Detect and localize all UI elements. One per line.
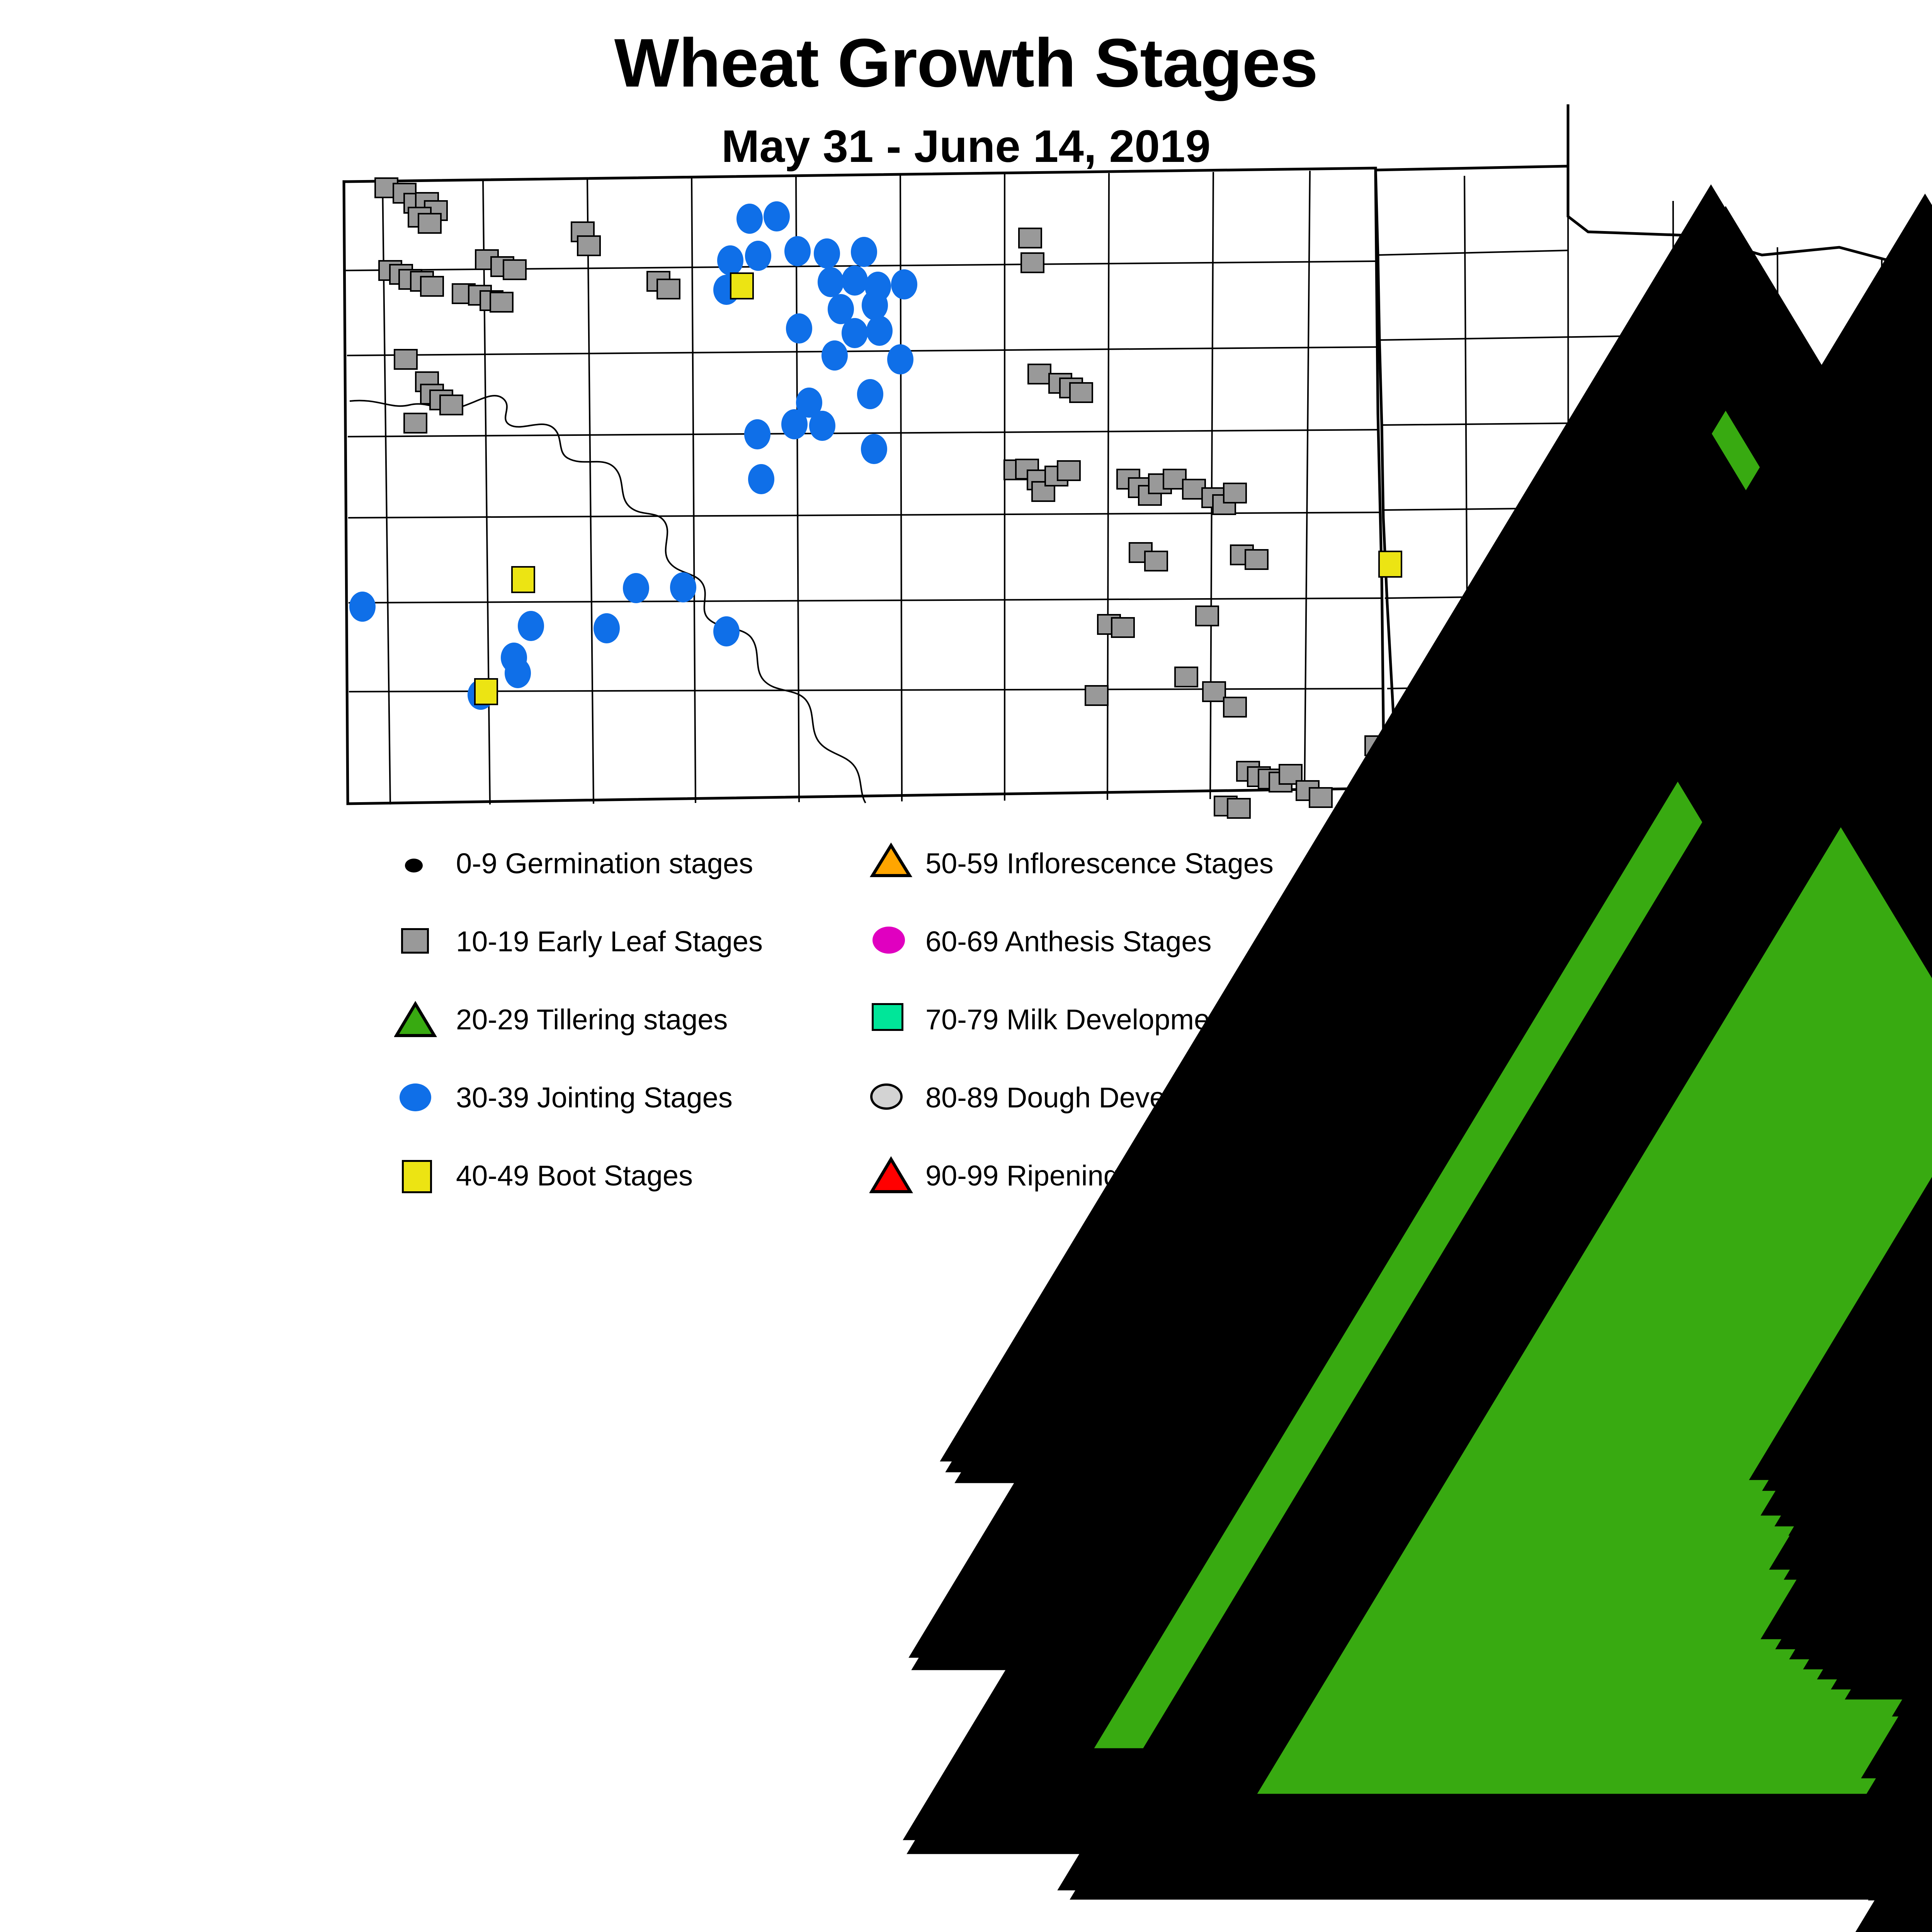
map-marker-tillering [859, 519, 887, 543]
legend-label: 40-49 Boot Stages [456, 1160, 693, 1191]
legend-label: 60-69 Anthesis Stages [925, 926, 1212, 957]
map-marker-tillering [1501, 801, 1529, 825]
legend-item-inflorescence[interactable]: 50-59 Inflorescence Stages [869, 842, 1457, 920]
map-marker-jointing [736, 204, 763, 234]
boot-square-icon [394, 1155, 452, 1205]
legend-label: 10-19 Early Leaf Stages [456, 926, 763, 957]
anthesis-circle-icon [869, 920, 920, 971]
map-marker-jointing [505, 658, 531, 688]
map-marker-tillering [555, 619, 583, 644]
legend-item-jointing[interactable]: 30-39 Jointing Stages [394, 1077, 850, 1155]
map-marker-tillering [1488, 1051, 1515, 1076]
map-marker-tillering [848, 467, 876, 492]
legend-label: 90-99 Ripening Stages [925, 1160, 1216, 1191]
map-marker-tillering [1501, 952, 1529, 977]
early-leaf-square-icon [394, 920, 452, 971]
map-marker-boot [474, 678, 498, 705]
map-marker-jointing [745, 241, 771, 271]
map-marker-tillering [1488, 269, 1515, 294]
map-marker-jointing [821, 340, 848, 371]
germination-dot-icon [394, 842, 452, 893]
map-marker-jointing [851, 237, 877, 267]
legend-item-boot[interactable]: 40-49 Boot Stages [394, 1155, 850, 1233]
page-title: Wheat Growth Stages [0, 29, 1932, 97]
map-marker-boot [1378, 551, 1402, 578]
map-marker-jointing [781, 409, 808, 439]
legend: 0-9 Germination stages 10-19 Early Leaf … [394, 842, 1457, 1233]
map-marker-tillering [392, 573, 420, 598]
legend-label: 50-59 Inflorescence Stages [925, 848, 1274, 879]
map-marker-jointing [842, 265, 868, 296]
map-marker-jointing [784, 236, 811, 266]
legend-label: 30-39 Jointing Stages [456, 1082, 733, 1113]
map-marker-jointing [717, 245, 743, 276]
legend-item-milk[interactable]: 70-79 Milk Development Stages [869, 998, 1457, 1077]
legend-column-left: 0-9 Germination stages 10-19 Early Leaf … [394, 842, 850, 1233]
map-marker-early-leaf [394, 349, 418, 370]
legend-label: 70-79 Milk Development Stages [925, 1004, 1331, 1035]
map-marker-jointing [594, 613, 620, 643]
map-marker-jointing [861, 434, 887, 464]
map-marker-jointing [349, 592, 376, 622]
map-marker-jointing [862, 290, 888, 320]
map-marker-jointing [857, 379, 883, 409]
dough-circle-icon [869, 1077, 920, 1127]
legend-label: 80-89 Dough Development Stages [925, 1082, 1364, 1113]
jointing-circle-icon [394, 1077, 452, 1127]
legend-item-germination[interactable]: 0-9 Germination stages [394, 842, 850, 920]
wheat-growth-stage-map-page: Wheat Growth Stages May 31 - June 14, 20… [0, 0, 1932, 1355]
map-marker-jointing [748, 464, 774, 494]
map-marker-tillering [722, 453, 750, 478]
map-marker-tillering [1495, 894, 1523, 919]
map-marker-jointing [713, 616, 740, 646]
map-marker-boot [511, 566, 535, 593]
legend-column-right: 50-59 Inflorescence Stages 60-69 Anthesi… [869, 842, 1457, 1233]
legend-item-dough[interactable]: 80-89 Dough Development Stages [869, 1077, 1457, 1155]
page-subtitle: May 31 - June 14, 2019 [0, 124, 1932, 169]
tillering-triangle-icon [394, 998, 452, 1049]
map-marker-tillering [1604, 1029, 1632, 1054]
map-marker-jointing [891, 269, 917, 299]
map-marker-jointing [887, 344, 913, 374]
map-marker-tillering [1445, 215, 1473, 240]
map-marker-jointing [809, 411, 835, 441]
map-marker-jointing [764, 201, 790, 231]
map-marker-jointing [623, 573, 649, 603]
legend-item-ripening[interactable]: 90-99 Ripening Stages [869, 1155, 1457, 1233]
map-marker-jointing [744, 419, 770, 449]
map-marker-jointing [518, 611, 544, 641]
legend-item-early-leaf[interactable]: 10-19 Early Leaf Stages [394, 920, 850, 998]
map-marker-boot [730, 272, 754, 299]
inflorescence-triangle-icon [869, 842, 920, 893]
map-marker-jointing [814, 238, 840, 269]
legend-label: 0-9 Germination stages [456, 848, 753, 879]
ripening-triangle-icon [869, 1155, 920, 1205]
legend-item-anthesis[interactable]: 60-69 Anthesis Stages [869, 920, 1457, 998]
milk-square-icon [869, 998, 920, 1049]
map-marker-tillering [396, 389, 424, 414]
map-marker-jointing [866, 316, 893, 346]
map-marker-jointing [786, 313, 812, 344]
map-marker-jointing [842, 318, 868, 348]
map-marker-jointing [818, 267, 844, 297]
map-marker-jointing [670, 572, 696, 602]
legend-item-tillering[interactable]: 20-29 Tillering stages [394, 998, 850, 1077]
map-marker-tillering [440, 202, 468, 227]
legend-label: 20-29 Tillering stages [456, 1004, 728, 1035]
map-marker-tillering [1512, 1139, 1540, 1164]
map-marker-tillering [1406, 275, 1434, 300]
